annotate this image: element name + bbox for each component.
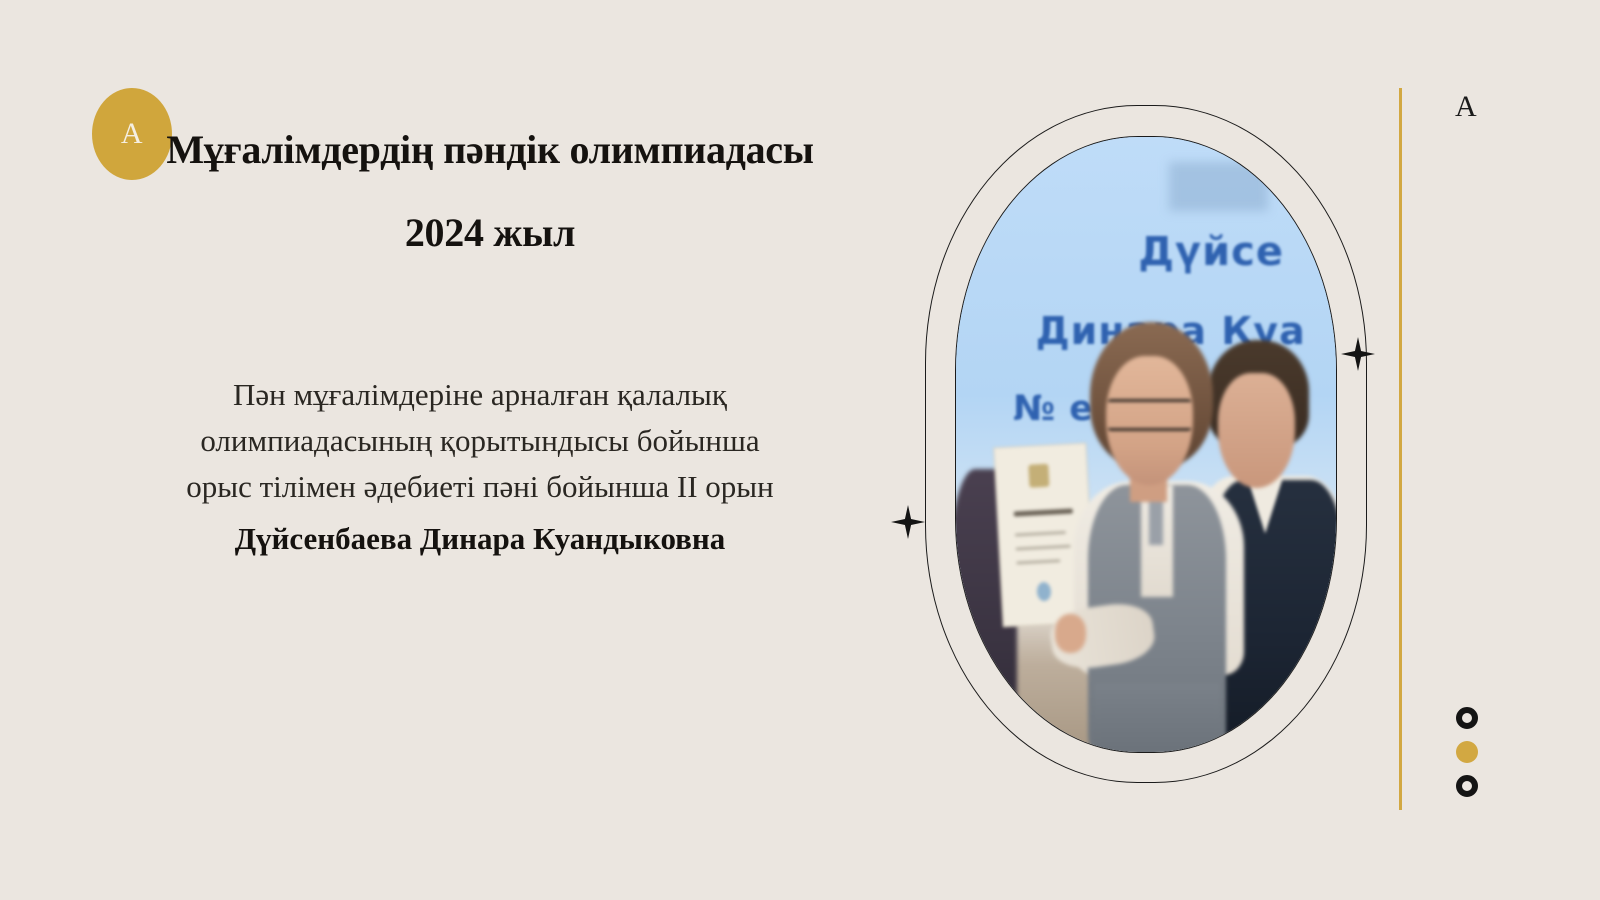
body-line-3: орыс тілімен әдебиеті пәні бойынша II ор…	[62, 464, 898, 510]
page-title-line-2: 2024 жыл	[60, 213, 920, 254]
certificate-text-line	[1017, 559, 1061, 564]
title-block: Мұғалімдердің пәндік олимпиадасы 2024 жы…	[60, 130, 920, 254]
vertical-divider	[1399, 88, 1402, 810]
dot-indicator-2[interactable]	[1456, 741, 1478, 763]
photo-subjects	[956, 137, 1336, 752]
body-text-block: Пән мұғалімдеріне арналған қалалық олимп…	[62, 372, 898, 562]
certificate-logo	[1036, 581, 1052, 601]
body-line-2: олимпиадасының қорытындысы бойынша	[62, 418, 898, 464]
awardee-name: Дүйсенбаева Динара Куандыковна	[62, 516, 898, 562]
awardee-person	[1062, 322, 1260, 753]
body-line-1: Пән мұғалімдеріне арналған қалалық	[62, 372, 898, 418]
dot-indicator-3[interactable]	[1456, 775, 1478, 797]
ceremony-photo: Дүйсе Динара Куа № е	[956, 137, 1336, 752]
page-title-line-1: Мұғалімдердің пәндік олимпиадасы	[60, 130, 920, 171]
photo-frame: Дүйсе Динара Куа № е	[955, 136, 1337, 753]
dot-indicator-group	[1456, 707, 1482, 797]
dot-indicator-1[interactable]	[1456, 707, 1478, 729]
corner-letter: A	[1455, 90, 1477, 124]
glasses-icon	[1108, 399, 1191, 431]
certificate-text-line	[1015, 530, 1066, 536]
certificate-seal	[1028, 463, 1049, 487]
slide-canvas: A Мұғалімдердің пәндік олимпиадасы 2024 …	[0, 0, 1600, 900]
awardee-skirt	[1094, 683, 1220, 753]
awardee-hand	[1055, 614, 1087, 653]
